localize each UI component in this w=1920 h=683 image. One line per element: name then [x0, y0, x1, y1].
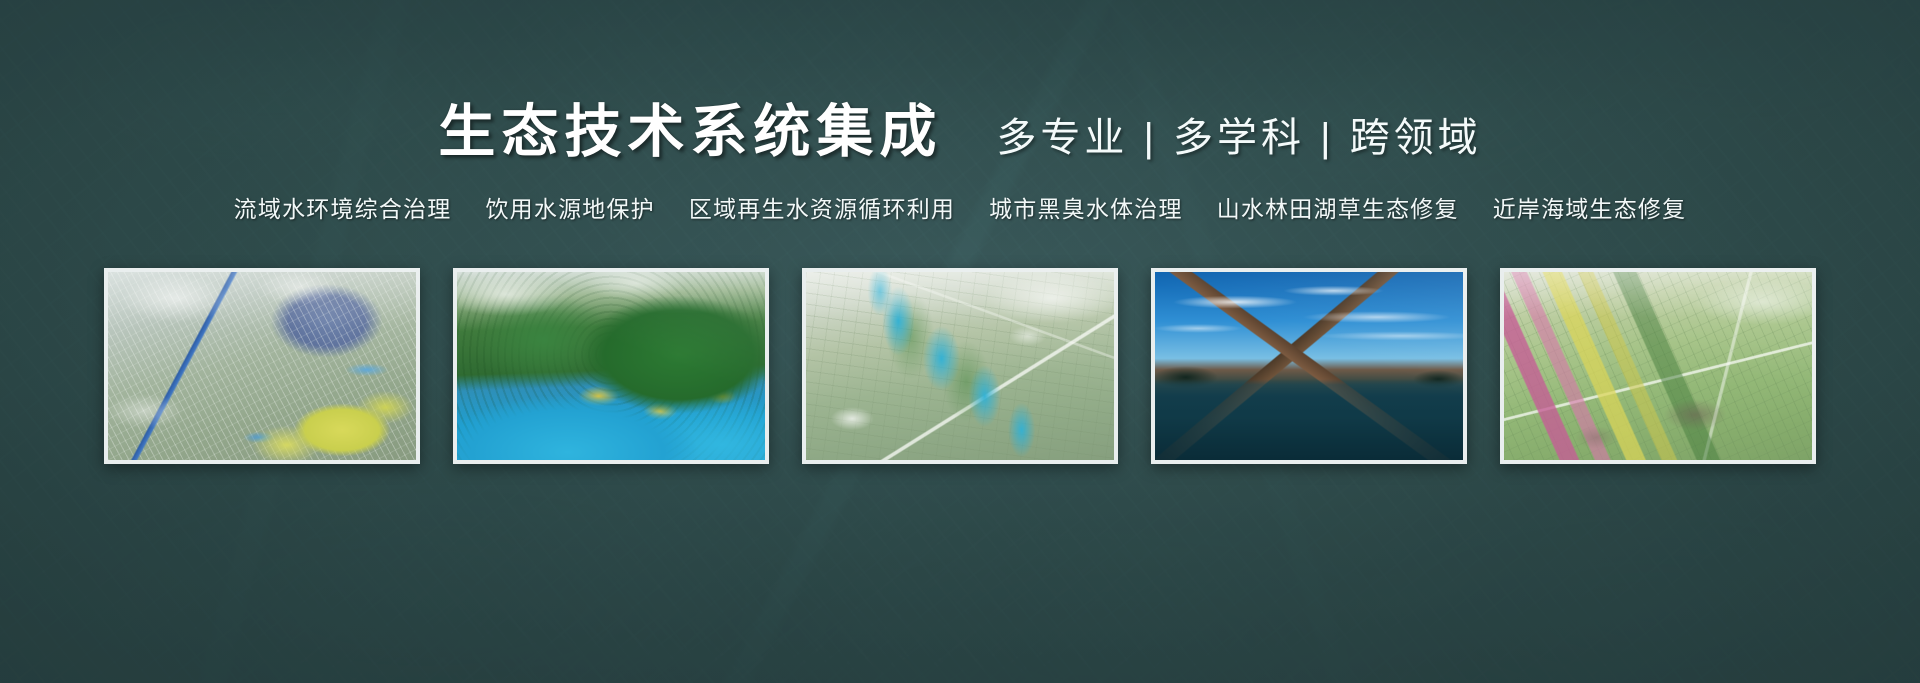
- thumbnail-mountain-lake-reflection[interactable]: [1151, 268, 1467, 464]
- hero-banner: 生态技术系统集成 多专业 | 多学科 | 跨领域 流域水环境综合治理 饮用水源地…: [0, 0, 1920, 683]
- thumbnail-image-4: [1155, 272, 1463, 460]
- keyword-row: 流域水环境综合治理 饮用水源地保护 区域再生水资源循环利用 城市黑臭水体治理 山…: [0, 190, 1920, 224]
- thumbnail-image-1: [108, 272, 416, 460]
- keyword-item-4[interactable]: 城市黑臭水体治理: [972, 190, 1200, 224]
- thumbnail-image-3: [806, 272, 1114, 460]
- thumbnail-farmland-flower-fields-aerial[interactable]: [1500, 268, 1816, 464]
- keyword-item-5[interactable]: 山水林田湖草生态修复: [1200, 190, 1476, 224]
- keyword-item-6[interactable]: 近岸海域生态修复: [1476, 190, 1704, 224]
- thumbnail-watershed-aerial-plain[interactable]: [104, 268, 420, 464]
- keyword-item-2[interactable]: 饮用水源地保护: [468, 190, 671, 224]
- keyword-item-1[interactable]: 流域水环境综合治理: [217, 190, 469, 224]
- keyword-item-3[interactable]: 区域再生水资源循环利用: [672, 190, 972, 224]
- thumbnail-image-5: [1504, 272, 1812, 460]
- headline-row: 生态技术系统集成 多专业 | 多学科 | 跨领域: [0, 104, 1920, 161]
- banner-title: 生态技术系统集成: [438, 104, 942, 161]
- thumbnail-strip: [0, 268, 1920, 464]
- thumbnail-image-2: [457, 272, 765, 460]
- thumbnail-river-corridor-restoration[interactable]: [802, 268, 1118, 464]
- banner-subtitle: 多专业 | 多学科 | 跨领域: [996, 118, 1481, 158]
- thumbnail-forested-reservoir-lake[interactable]: [453, 268, 769, 464]
- banner-content: 生态技术系统集成 多专业 | 多学科 | 跨领域 流域水环境综合治理 饮用水源地…: [0, 0, 1920, 683]
